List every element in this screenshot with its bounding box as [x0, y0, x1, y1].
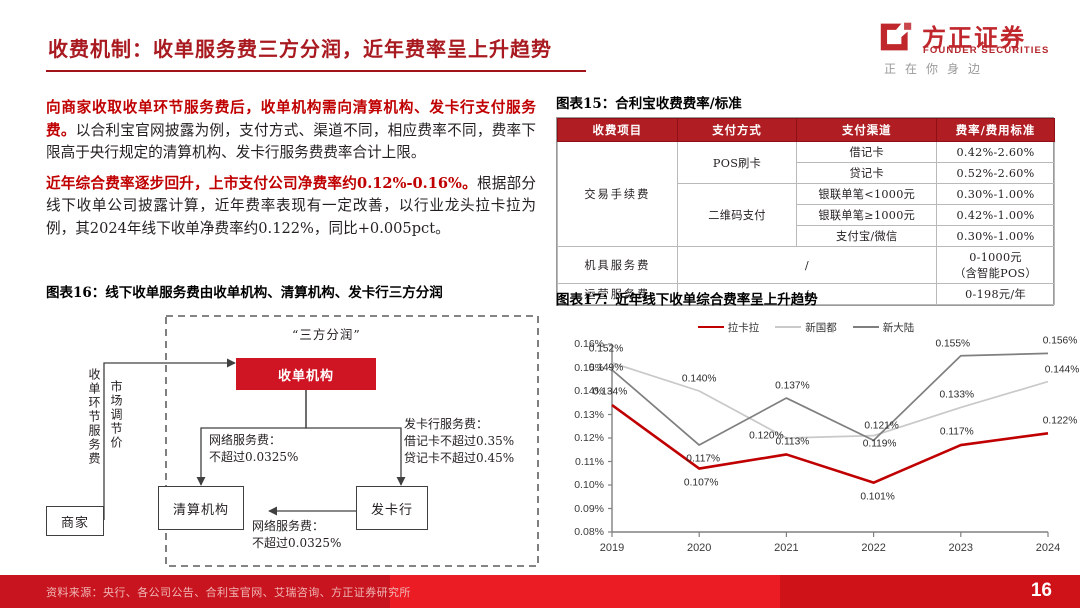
data-point-label: 0.120%	[749, 431, 784, 442]
label-network-fee-1: 网络服务费： 不超过0.0325%	[209, 432, 298, 466]
legend-label: 拉卡拉	[728, 320, 760, 335]
y-axis-tick-label: 0.08%	[574, 526, 604, 538]
data-point-label: 0.121%	[864, 420, 899, 431]
x-axis-tick-label: 2020	[687, 542, 711, 554]
rate-table: 收费项目 支付方式 支付渠道 费率/费用标准 交易手续费 POS刷卡 借记卡 0…	[557, 118, 1055, 305]
legend-item-3[interactable]: 新大陆	[853, 320, 915, 335]
data-point-label: 0.152%	[589, 343, 624, 354]
figure-16: 图表16：线下收单服务费由收单机构、清算机构、发卡行三方分润	[46, 281, 546, 578]
node-clearing: 清算机构	[158, 486, 244, 530]
legend-swatch-icon	[698, 326, 724, 329]
data-point-label: 0.117%	[940, 427, 974, 438]
y-axis-tick-label: 0.13%	[574, 409, 604, 421]
page-number: 16	[1031, 580, 1052, 602]
y-axis-tick-label: 0.10%	[574, 479, 604, 491]
y-axis-tick-label: 0.12%	[574, 432, 604, 444]
td-channel: 银联单笔<1000元	[797, 184, 937, 205]
data-point-label: 0.134%	[593, 387, 628, 398]
data-point-label: 0.101%	[860, 491, 895, 502]
slide-header: 收费机制：收单服务费三方分润，近年费率呈上升趋势 方正证券 FOUNDER SE…	[0, 0, 1080, 88]
figure-16-title: 图表16：线下收单服务费由收单机构、清算机构、发卡行三方分润	[46, 281, 546, 301]
legend-item-2[interactable]: 新国都	[775, 320, 837, 335]
paragraph-1: 向商家收取收单环节服务费后，收单机构需向清算机构、发卡行支付服务费。以合利宝官网…	[46, 97, 536, 165]
label-network-fee-2-line2: 不超过0.0325%	[252, 536, 341, 550]
chart-canvas	[556, 336, 1056, 566]
td-rate: 0.52%-2.60%	[937, 163, 1055, 184]
data-point-label: 0.149%	[589, 362, 624, 373]
x-axis-tick-label: 2023	[949, 542, 973, 554]
data-point-label: 0.133%	[940, 390, 975, 401]
line-chart: 0.08%0.09%0.10%0.11%0.12%0.13%0.14%0.15%…	[556, 336, 1056, 566]
title-underline	[46, 70, 586, 72]
label-issuer-fee-line2: 借记卡不超过0.35%	[404, 434, 514, 448]
data-point-label: 0.156%	[1043, 336, 1078, 347]
td-channel: 支付宝/微信	[797, 226, 937, 247]
label-network-fee-1-line1: 网络服务费：	[209, 433, 281, 447]
td-rate-device-line1: 0-1000元	[969, 251, 1022, 264]
y-axis-tick-label: 0.11%	[575, 456, 604, 468]
body-text-block: 向商家收取收单环节服务费后，收单机构需向清算机构、发卡行支付服务费。以合利宝官网…	[46, 97, 536, 248]
logo-slogan: 正在你身边	[884, 60, 989, 77]
founder-logo-icon	[878, 20, 914, 54]
data-point-label: 0.140%	[682, 374, 717, 385]
footer-band-mid	[390, 575, 780, 608]
td-rate: 0.30%-1.00%	[937, 226, 1055, 247]
td-method-qr: 二维码支付	[677, 184, 797, 247]
y-axis-tick-label: 0.09%	[574, 503, 604, 515]
data-point-label: 0.144%	[1045, 364, 1080, 375]
x-axis-tick-label: 2021	[774, 542, 798, 554]
table-header-row: 收费项目 支付方式 支付渠道 费率/费用标准	[558, 119, 1055, 142]
page-title: 收费机制：收单服务费三方分润，近年费率呈上升趋势	[48, 33, 552, 62]
three-party-diagram: “三方分润” 收单机构 商家 清算机构 发卡行 收单环节服务费 市场调节价 网络…	[46, 306, 546, 578]
data-point-label: 0.107%	[684, 477, 719, 488]
slide-page: 收费机制：收单服务费三方分润，近年费率呈上升趋势 方正证券 FOUNDER SE…	[0, 0, 1080, 608]
td-channel: 银联单笔≥1000元	[797, 205, 937, 226]
td-item-device-fee: 机具服务费	[558, 247, 678, 284]
figure-17-title: 图表17：近年线下收单综合费率呈上升趋势	[556, 288, 1056, 308]
label-acquiring-service-fee: 收单环节服务费	[86, 368, 103, 466]
th-rate: 费率/费用标准	[937, 119, 1055, 142]
node-acquirer: 收单机构	[236, 358, 376, 390]
x-axis-tick-label: 2024	[1036, 542, 1060, 554]
label-network-fee-2-line1: 网络服务费：	[252, 519, 324, 533]
chart-legend: 拉卡拉新国都新大陆	[556, 318, 1056, 336]
td-channel: 贷记卡	[797, 163, 937, 184]
legend-item-1[interactable]: 拉卡拉	[698, 320, 760, 335]
logo-english-text: FOUNDER SECURITIES	[923, 45, 1049, 56]
legend-label: 新大陆	[883, 320, 915, 335]
legend-swatch-icon	[853, 326, 879, 329]
paragraph-2: 近年综合费率逐步回升，上市支付公司净费率约0.12%-0.16%。根据部分线下收…	[46, 173, 536, 241]
td-slash: /	[677, 247, 936, 284]
data-point-label: 0.122%	[1043, 416, 1078, 427]
paragraph-2-bold: 近年综合费率逐步回升，上市支付公司净费率约0.12%-0.16%。	[46, 175, 477, 192]
label-issuer-fee-line3: 贷记卡不超过0.45%	[404, 451, 514, 465]
label-issuer-fee-line1: 发卡行服务费：	[404, 417, 488, 431]
td-rate-device: 0-1000元 （含智能POS）	[937, 247, 1055, 284]
figure-15: 图表15：合利宝收费费率/标准 收费项目 支付方式 支付渠道 费率/费用标准 交…	[556, 92, 1054, 306]
data-point-label: 0.117%	[686, 454, 720, 465]
figure-17: 图表17：近年线下收单综合费率呈上升趋势 拉卡拉新国都新大陆 0.08%0.09…	[556, 288, 1056, 566]
brand-logo: 方正证券 FOUNDER SECURITIES 正在你身边	[874, 16, 1064, 78]
legend-swatch-icon	[775, 326, 801, 329]
rate-table-wrapper: 收费项目 支付方式 支付渠道 费率/费用标准 交易手续费 POS刷卡 借记卡 0…	[556, 117, 1054, 306]
diagram-frame-label: “三方分润”	[292, 324, 361, 343]
x-axis-tick-label: 2019	[600, 542, 624, 554]
label-issuer-fee: 发卡行服务费： 借记卡不超过0.35% 贷记卡不超过0.45%	[404, 416, 514, 467]
data-point-label: 0.119%	[863, 439, 897, 450]
td-rate: 0.42%-2.60%	[937, 142, 1055, 163]
footer-source-text: 资料来源：央行、各公司公告、合利宝官网、艾瑞咨询、方正证券研究所	[46, 584, 411, 600]
td-rate-device-line2: （含智能POS）	[954, 267, 1037, 280]
td-rate: 0.42%-1.00%	[937, 205, 1055, 226]
th-method: 支付方式	[677, 119, 797, 142]
paragraph-1-rest: 以合利宝官网披露为例，支付方式、渠道不同，相应费率不同，费率下限高于央行规定的清…	[46, 122, 536, 162]
label-market-price: 市场调节价	[108, 380, 125, 450]
node-merchant: 商家	[46, 506, 104, 536]
label-network-fee-2: 网络服务费： 不超过0.0325%	[252, 518, 341, 552]
td-channel: 借记卡	[797, 142, 937, 163]
table-row: 交易手续费 POS刷卡 借记卡 0.42%-2.60%	[558, 142, 1055, 163]
figure-15-title: 图表15：合利宝收费费率/标准	[556, 92, 1054, 112]
node-issuer: 发卡行	[356, 486, 428, 530]
data-point-label: 0.137%	[775, 381, 810, 392]
td-group-transaction-fee: 交易手续费	[558, 142, 678, 247]
table-row: 机具服务费 / 0-1000元 （含智能POS）	[558, 247, 1055, 284]
slide-footer: 资料来源：央行、各公司公告、合利宝官网、艾瑞咨询、方正证券研究所 16	[0, 575, 1080, 608]
td-method-pos: POS刷卡	[677, 142, 797, 184]
th-item: 收费项目	[558, 119, 678, 142]
data-point-label: 0.155%	[936, 338, 971, 349]
legend-label: 新国都	[805, 320, 837, 335]
x-axis-tick-label: 2022	[861, 542, 885, 554]
td-rate: 0.30%-1.00%	[937, 184, 1055, 205]
th-channel: 支付渠道	[797, 119, 937, 142]
label-network-fee-1-line2: 不超过0.0325%	[209, 450, 298, 464]
